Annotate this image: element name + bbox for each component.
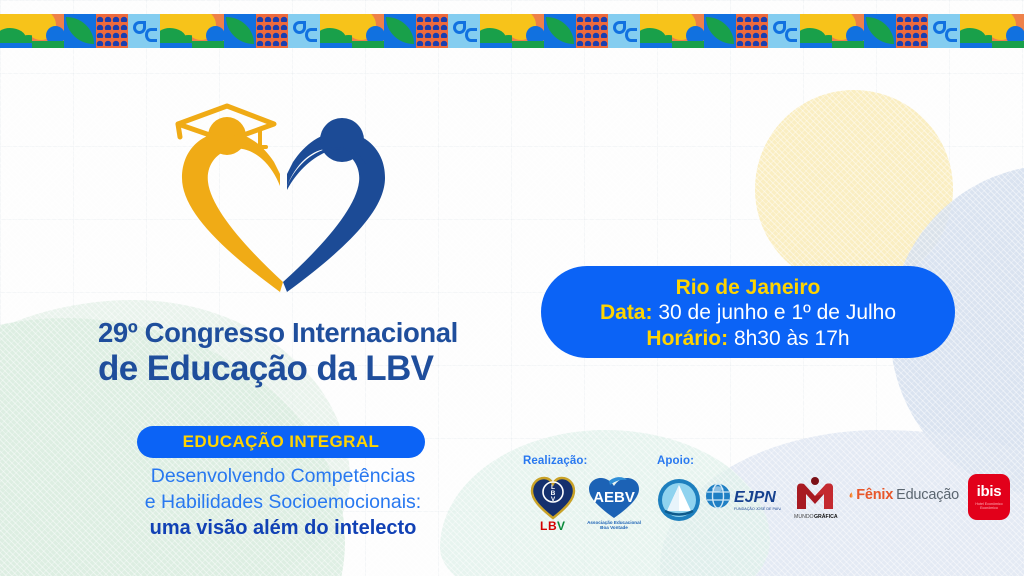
svg-text:V: V <box>551 496 556 503</box>
hill-tile <box>800 14 832 48</box>
fenix-flame-icon <box>849 485 853 505</box>
squiggle-tile <box>608 14 640 48</box>
leaf-tile <box>864 14 896 48</box>
wave-tile <box>416 14 448 48</box>
cap-tassel <box>254 131 266 148</box>
event-info-box: Rio de Janeiro Data: 30 de junho e 1º de… <box>541 266 955 358</box>
realizacao-label: Realização: <box>523 455 587 467</box>
cap-edge <box>178 124 180 137</box>
leaf-tile <box>544 14 576 48</box>
hill-tile <box>160 14 192 48</box>
mundo-caption-b: GRÁFICA <box>814 513 838 520</box>
fenix-wordmark-bold: Fênix <box>856 487 893 503</box>
squiggle-tile <box>448 14 480 48</box>
wave-tile <box>256 14 288 48</box>
sun-circle-tile <box>832 14 864 48</box>
wave-tile <box>736 14 768 48</box>
squiggle-tile <box>928 14 960 48</box>
title-line-2: de Educação da LBV <box>98 350 498 389</box>
page-title: 29º Congresso Internacional de Educação … <box>98 318 498 388</box>
hill-tile <box>960 14 992 48</box>
sun-circle-tile <box>32 14 64 48</box>
sun-circle-tile <box>192 14 224 48</box>
logo-aras <box>657 478 701 522</box>
fenix-wordmark-light: Educação <box>896 487 959 503</box>
subtitle-line-3: uma visão além do intelecto <box>98 515 468 542</box>
hill-tile <box>0 14 32 48</box>
event-city: Rio de Janeiro <box>676 275 821 301</box>
wave-tile <box>96 14 128 48</box>
date-label: Data: <box>600 301 653 324</box>
mundo-dot <box>811 477 819 485</box>
heart-left-yellow <box>182 132 283 292</box>
subtitle-line-2: e Habilidades Socioemocionais: <box>98 490 468 516</box>
ibis-caption: Hotel Econômico Econômico <box>968 502 1010 511</box>
hill-tile <box>480 14 512 48</box>
subtitle-block: Desenvolvendo Competências e Habilidades… <box>98 464 468 543</box>
aebv-wordmark: AEBV <box>593 489 635 506</box>
logo-lbv: L B V L B V <box>529 474 577 532</box>
time-value: 8h30 às 17h <box>734 327 850 350</box>
event-date-row: Data: 30 de junho e 1º de Julho <box>600 300 896 326</box>
squiggle-tile <box>128 14 160 48</box>
hill-tile <box>640 14 672 48</box>
leaf-tile <box>64 14 96 48</box>
time-label: Horário: <box>646 327 728 350</box>
logo-ejpn: EJPN FUNDAÇÃO JOSÉ DE PAIVA NETTO <box>705 480 781 516</box>
sun-circle-tile <box>672 14 704 48</box>
ibis-wordmark: ibis <box>977 484 1002 499</box>
date-value: 30 de junho e 1º de Julho <box>658 301 896 324</box>
mundo-caption-a: MUNDO <box>794 514 814 520</box>
logo-fenix-educacao: Fênix Educação <box>849 482 959 508</box>
logo-aebv: AEBV Associação Educacional Boa Vontade <box>583 474 645 532</box>
leaf-tile <box>224 14 256 48</box>
theme-badge: EDUCAÇÃO INTEGRAL <box>137 426 425 458</box>
svg-text:V: V <box>557 519 565 532</box>
banner-canvas: 29º Congresso Internacional de Educação … <box>0 0 1024 576</box>
ejpn-wordmark: EJPN <box>734 489 776 506</box>
wave-tile <box>896 14 928 48</box>
squiggle-tile <box>288 14 320 48</box>
lbv-wordmark: L <box>540 519 547 532</box>
ejpn-caption: FUNDAÇÃO JOSÉ DE PAIVA NETTO <box>734 506 781 511</box>
top-decorative-border <box>0 14 1024 48</box>
apoio-label: Apoio: <box>657 455 694 467</box>
subtitle-line-1: Desenvolvendo Competências <box>98 464 468 490</box>
logo-ibis: ibis Hotel Econômico Econômico <box>968 474 1010 524</box>
sun-circle-tile <box>512 14 544 48</box>
ibis-card: ibis Hotel Econômico Econômico <box>968 474 1010 520</box>
aebv-caption-2: Boa Vontade <box>600 525 628 530</box>
blue-head <box>320 118 364 162</box>
sun-circle-tile <box>992 14 1024 48</box>
sun-circle-tile <box>352 14 384 48</box>
wave-tile <box>576 14 608 48</box>
title-line-1: 29º Congresso Internacional <box>98 318 498 349</box>
leaf-tile <box>384 14 416 48</box>
hill-tile <box>320 14 352 48</box>
squiggle-tile <box>768 14 800 48</box>
svg-text:B: B <box>548 519 557 532</box>
logo-mundografica: MUNDO GRÁFICA <box>788 476 842 520</box>
congress-heart-logo <box>150 100 420 305</box>
sponsors-section: Realização: Apoio: L B V L B V AEBV Asso… <box>505 452 1015 548</box>
event-time-row: Horário: 8h30 às 17h <box>646 326 849 352</box>
leaf-tile <box>704 14 736 48</box>
